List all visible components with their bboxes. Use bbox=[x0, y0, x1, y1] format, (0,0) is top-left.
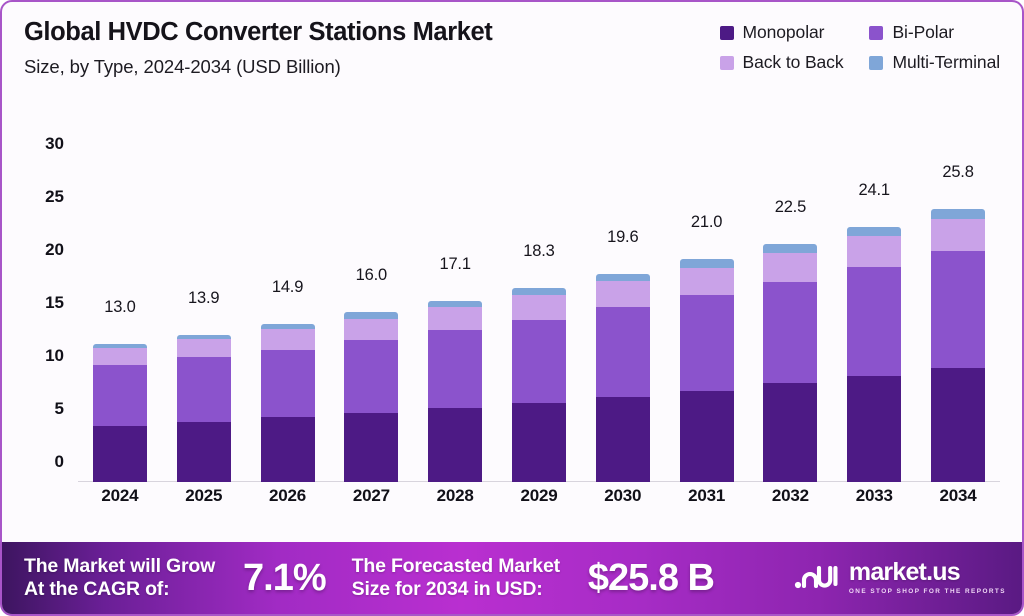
bar-segment[interactable] bbox=[428, 330, 482, 407]
y-axis: 051015202530 bbox=[16, 82, 72, 502]
bar-segment[interactable] bbox=[177, 422, 231, 482]
bar-stack[interactable] bbox=[931, 209, 985, 482]
bar-segment[interactable] bbox=[512, 320, 566, 403]
bar-segment[interactable] bbox=[344, 340, 398, 413]
x-axis-labels: 2024202520262027202820292030203120322033… bbox=[78, 486, 1000, 506]
bar-stack[interactable] bbox=[680, 259, 734, 482]
bar-stack[interactable] bbox=[344, 312, 398, 482]
marketus-logo[interactable]: market.us ONE STOP SHOP FOR THE REPORTS bbox=[794, 560, 1006, 597]
square-swatch-icon bbox=[720, 56, 734, 70]
bar-segment[interactable] bbox=[847, 227, 901, 237]
summary-footer: The Market will Grow At the CAGR of: 7.1… bbox=[2, 542, 1022, 614]
bar-column[interactable]: 21.0 bbox=[665, 82, 749, 482]
bar-segment[interactable] bbox=[512, 403, 566, 483]
y-axis-tick: 0 bbox=[55, 452, 64, 472]
square-swatch-icon bbox=[869, 56, 883, 70]
bar-segment[interactable] bbox=[680, 295, 734, 390]
bar-group: 13.013.914.916.017.118.319.621.022.524.1… bbox=[78, 82, 1000, 502]
bar-stack[interactable] bbox=[93, 344, 147, 482]
bar-value-label: 13.0 bbox=[104, 298, 135, 317]
x-axis-tick-label: 2028 bbox=[413, 486, 497, 506]
bar-column[interactable]: 22.5 bbox=[749, 82, 833, 482]
bar-segment[interactable] bbox=[931, 219, 985, 251]
x-axis-tick-label: 2032 bbox=[749, 486, 833, 506]
bar-segment[interactable] bbox=[931, 251, 985, 368]
bar-value-label: 24.1 bbox=[859, 181, 890, 200]
bar-value-label: 18.3 bbox=[523, 242, 554, 261]
logo-tagline: ONE STOP SHOP FOR THE REPORTS bbox=[849, 589, 1006, 595]
bar-segment[interactable] bbox=[763, 253, 817, 282]
bar-stack[interactable] bbox=[261, 324, 315, 482]
legend-item-monopolar: Monopolar bbox=[720, 22, 844, 43]
bar-value-label: 17.1 bbox=[439, 255, 470, 274]
y-axis-tick: 5 bbox=[55, 399, 64, 419]
x-axis-tick-label: 2027 bbox=[329, 486, 413, 506]
bar-segment[interactable] bbox=[177, 357, 231, 422]
y-axis-tick: 10 bbox=[45, 346, 64, 366]
bar-segment[interactable] bbox=[931, 368, 985, 482]
x-axis-tick-label: 2034 bbox=[916, 486, 1000, 506]
bar-segment[interactable] bbox=[512, 295, 566, 319]
logo-text-block: market.us ONE STOP SHOP FOR THE REPORTS bbox=[849, 560, 1006, 595]
bar-column[interactable]: 13.0 bbox=[78, 82, 162, 482]
chart-subtitle: Size, by Type, 2024-2034 (USD Billion) bbox=[24, 56, 492, 78]
title-block: Global HVDC Converter Stations Market Si… bbox=[24, 16, 492, 78]
bar-stack[interactable] bbox=[428, 301, 482, 482]
legend-item-back-to-back: Back to Back bbox=[720, 52, 844, 73]
forecast-caption-line1: The Forecasted Market bbox=[352, 555, 560, 578]
bar-segment[interactable] bbox=[428, 307, 482, 330]
bar-segment[interactable] bbox=[596, 397, 650, 482]
marketus-logo-icon bbox=[794, 560, 840, 597]
bar-column[interactable]: 19.6 bbox=[581, 82, 665, 482]
bar-column[interactable]: 24.1 bbox=[832, 82, 916, 482]
bar-segment[interactable] bbox=[261, 350, 315, 418]
y-axis-tick: 25 bbox=[45, 187, 64, 207]
legend-label: Monopolar bbox=[743, 22, 825, 43]
bar-column[interactable]: 13.9 bbox=[162, 82, 246, 482]
cagr-caption-line1: The Market will Grow bbox=[24, 555, 215, 578]
bar-segment[interactable] bbox=[344, 413, 398, 482]
bar-segment[interactable] bbox=[261, 417, 315, 482]
legend-item-bi-polar: Bi-Polar bbox=[869, 22, 1000, 43]
bar-segment[interactable] bbox=[261, 329, 315, 349]
bar-column[interactable]: 25.8 bbox=[916, 82, 1000, 482]
bar-value-label: 13.9 bbox=[188, 289, 219, 308]
forecast-caption-line2: Size for 2034 in USD: bbox=[352, 578, 560, 601]
forecast-caption: The Forecasted Market Size for 2034 in U… bbox=[352, 555, 560, 601]
legend-label: Bi-Polar bbox=[892, 22, 953, 43]
legend-item-multi-terminal: Multi-Terminal bbox=[869, 52, 1000, 73]
forecast-value: $25.8 B bbox=[588, 557, 714, 600]
bar-segment[interactable] bbox=[763, 383, 817, 482]
bar-stack[interactable] bbox=[512, 288, 566, 482]
bar-column[interactable]: 16.0 bbox=[329, 82, 413, 482]
x-axis-tick-label: 2029 bbox=[497, 486, 581, 506]
y-axis-tick: 20 bbox=[45, 240, 64, 260]
square-swatch-icon bbox=[869, 26, 883, 40]
x-axis-tick-label: 2031 bbox=[665, 486, 749, 506]
bar-stack[interactable] bbox=[763, 244, 817, 483]
bar-segment[interactable] bbox=[177, 339, 231, 357]
bar-column[interactable]: 14.9 bbox=[246, 82, 330, 482]
bar-column[interactable]: 18.3 bbox=[497, 82, 581, 482]
bar-stack[interactable] bbox=[596, 274, 650, 482]
bar-segment[interactable] bbox=[931, 209, 985, 220]
bar-value-label: 22.5 bbox=[775, 198, 806, 217]
bar-segment[interactable] bbox=[344, 319, 398, 340]
x-axis-tick-label: 2025 bbox=[162, 486, 246, 506]
bar-segment[interactable] bbox=[428, 408, 482, 482]
infographic-container: Global HVDC Converter Stations Market Si… bbox=[0, 0, 1024, 616]
bar-segment[interactable] bbox=[93, 426, 147, 482]
bar-segment[interactable] bbox=[680, 391, 734, 482]
bar-value-label: 16.0 bbox=[356, 266, 387, 285]
chart-plot-area: 051015202530 13.013.914.916.017.118.319.… bbox=[16, 82, 1006, 502]
bar-segment[interactable] bbox=[763, 244, 817, 254]
bar-segment[interactable] bbox=[847, 267, 901, 376]
bar-stack[interactable] bbox=[177, 335, 231, 482]
bar-segment[interactable] bbox=[847, 376, 901, 482]
page-title: Global HVDC Converter Stations Market bbox=[24, 18, 492, 47]
bar-segment[interactable] bbox=[847, 236, 901, 267]
chart-legend: Monopolar Bi-Polar Back to Back Multi-Te… bbox=[720, 16, 1004, 73]
y-axis-tick: 30 bbox=[45, 134, 64, 154]
bar-segment[interactable] bbox=[512, 288, 566, 295]
cagr-value: 7.1% bbox=[243, 557, 326, 600]
bar-segment[interactable] bbox=[680, 259, 734, 267]
legend-label: Multi-Terminal bbox=[892, 52, 1000, 73]
chart-header: Global HVDC Converter Stations Market Si… bbox=[2, 2, 1022, 82]
logo-name: market.us bbox=[849, 560, 1006, 585]
bar-segment[interactable] bbox=[596, 307, 650, 397]
cagr-caption-line2: At the CAGR of: bbox=[24, 578, 215, 601]
axis-spacer bbox=[2, 502, 1022, 542]
x-axis-tick-label: 2033 bbox=[832, 486, 916, 506]
x-axis-tick-label: 2030 bbox=[581, 486, 665, 506]
bar-column[interactable]: 17.1 bbox=[413, 82, 497, 482]
cagr-caption: The Market will Grow At the CAGR of: bbox=[24, 555, 215, 601]
bar-segment[interactable] bbox=[680, 268, 734, 296]
x-axis-tick-label: 2026 bbox=[246, 486, 330, 506]
bar-value-label: 14.9 bbox=[272, 278, 303, 297]
x-axis-tick-label: 2024 bbox=[78, 486, 162, 506]
bar-segment[interactable] bbox=[93, 348, 147, 365]
bar-stack[interactable] bbox=[847, 227, 901, 482]
bar-value-label: 19.6 bbox=[607, 228, 638, 247]
bar-segment[interactable] bbox=[93, 365, 147, 425]
square-swatch-icon bbox=[720, 26, 734, 40]
bar-segment[interactable] bbox=[596, 281, 650, 308]
bar-value-label: 25.8 bbox=[942, 163, 973, 182]
bar-value-label: 21.0 bbox=[691, 213, 722, 232]
y-axis-tick: 15 bbox=[45, 293, 64, 313]
bar-segment[interactable] bbox=[763, 282, 817, 384]
legend-label: Back to Back bbox=[743, 52, 844, 73]
